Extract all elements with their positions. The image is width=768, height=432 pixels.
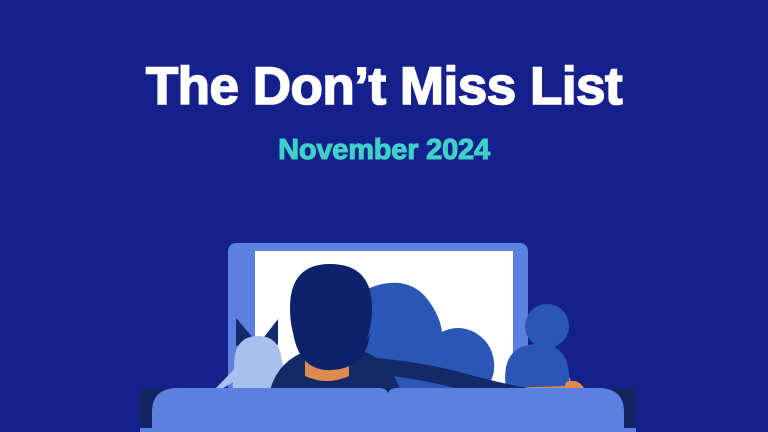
couch-seat <box>152 388 624 432</box>
child-hair-bun <box>525 304 569 348</box>
couch-baseline <box>140 428 636 432</box>
slide-canvas: The Don’t Miss List November 2024 <box>0 0 768 432</box>
family-watching-tv-illustration <box>0 0 768 432</box>
